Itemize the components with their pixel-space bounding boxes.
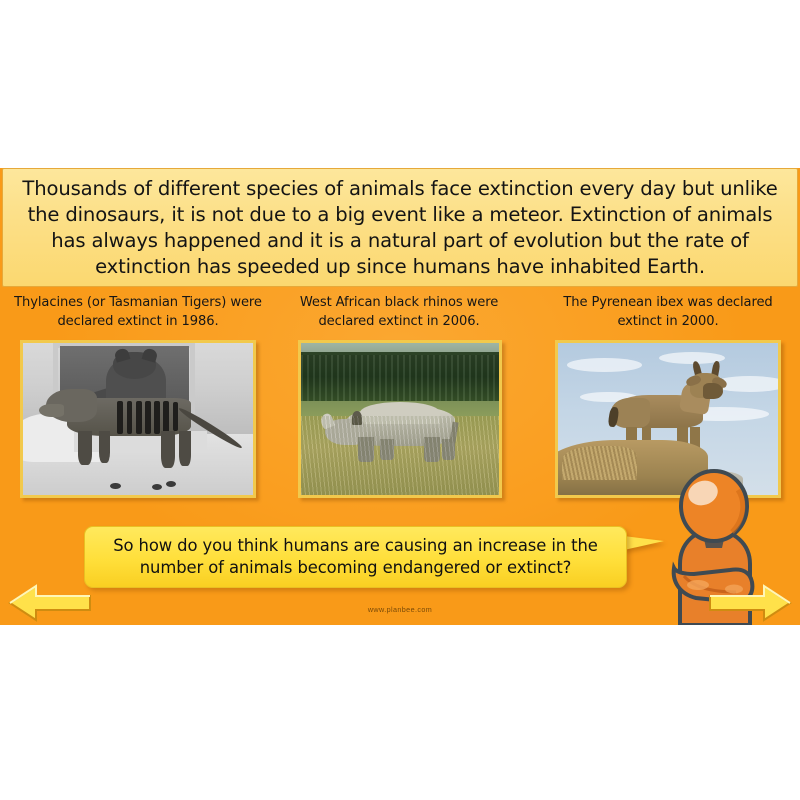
black-rhino-photo xyxy=(298,340,502,498)
statement-text: Thousands of different species of animal… xyxy=(22,177,777,278)
caption-pyrenean-ibex: The Pyrenean ibex was declared extinct i… xyxy=(548,294,788,331)
statement-text-box: Thousands of different species of animal… xyxy=(2,168,798,287)
next-slide-arrow[interactable] xyxy=(706,580,794,625)
footer-url: www.planbee.com xyxy=(368,605,432,614)
previous-slide-arrow[interactable] xyxy=(6,580,94,625)
caption-thylacine: Thylacines (or Tasmanian Tigers) were de… xyxy=(14,294,262,331)
caption-black-rhino: West African black rhinos were declared … xyxy=(290,294,508,331)
question-speech-bubble: So how do you think humans are causing a… xyxy=(84,526,627,588)
thylacine-photo xyxy=(20,340,256,498)
slide-canvas: Thousands of different species of animal… xyxy=(0,168,800,625)
caption-row: Thylacines (or Tasmanian Tigers) were de… xyxy=(0,294,800,336)
footer-watermark: www.planbee.com xyxy=(0,605,800,614)
question-text: So how do you think humans are causing a… xyxy=(93,535,618,580)
